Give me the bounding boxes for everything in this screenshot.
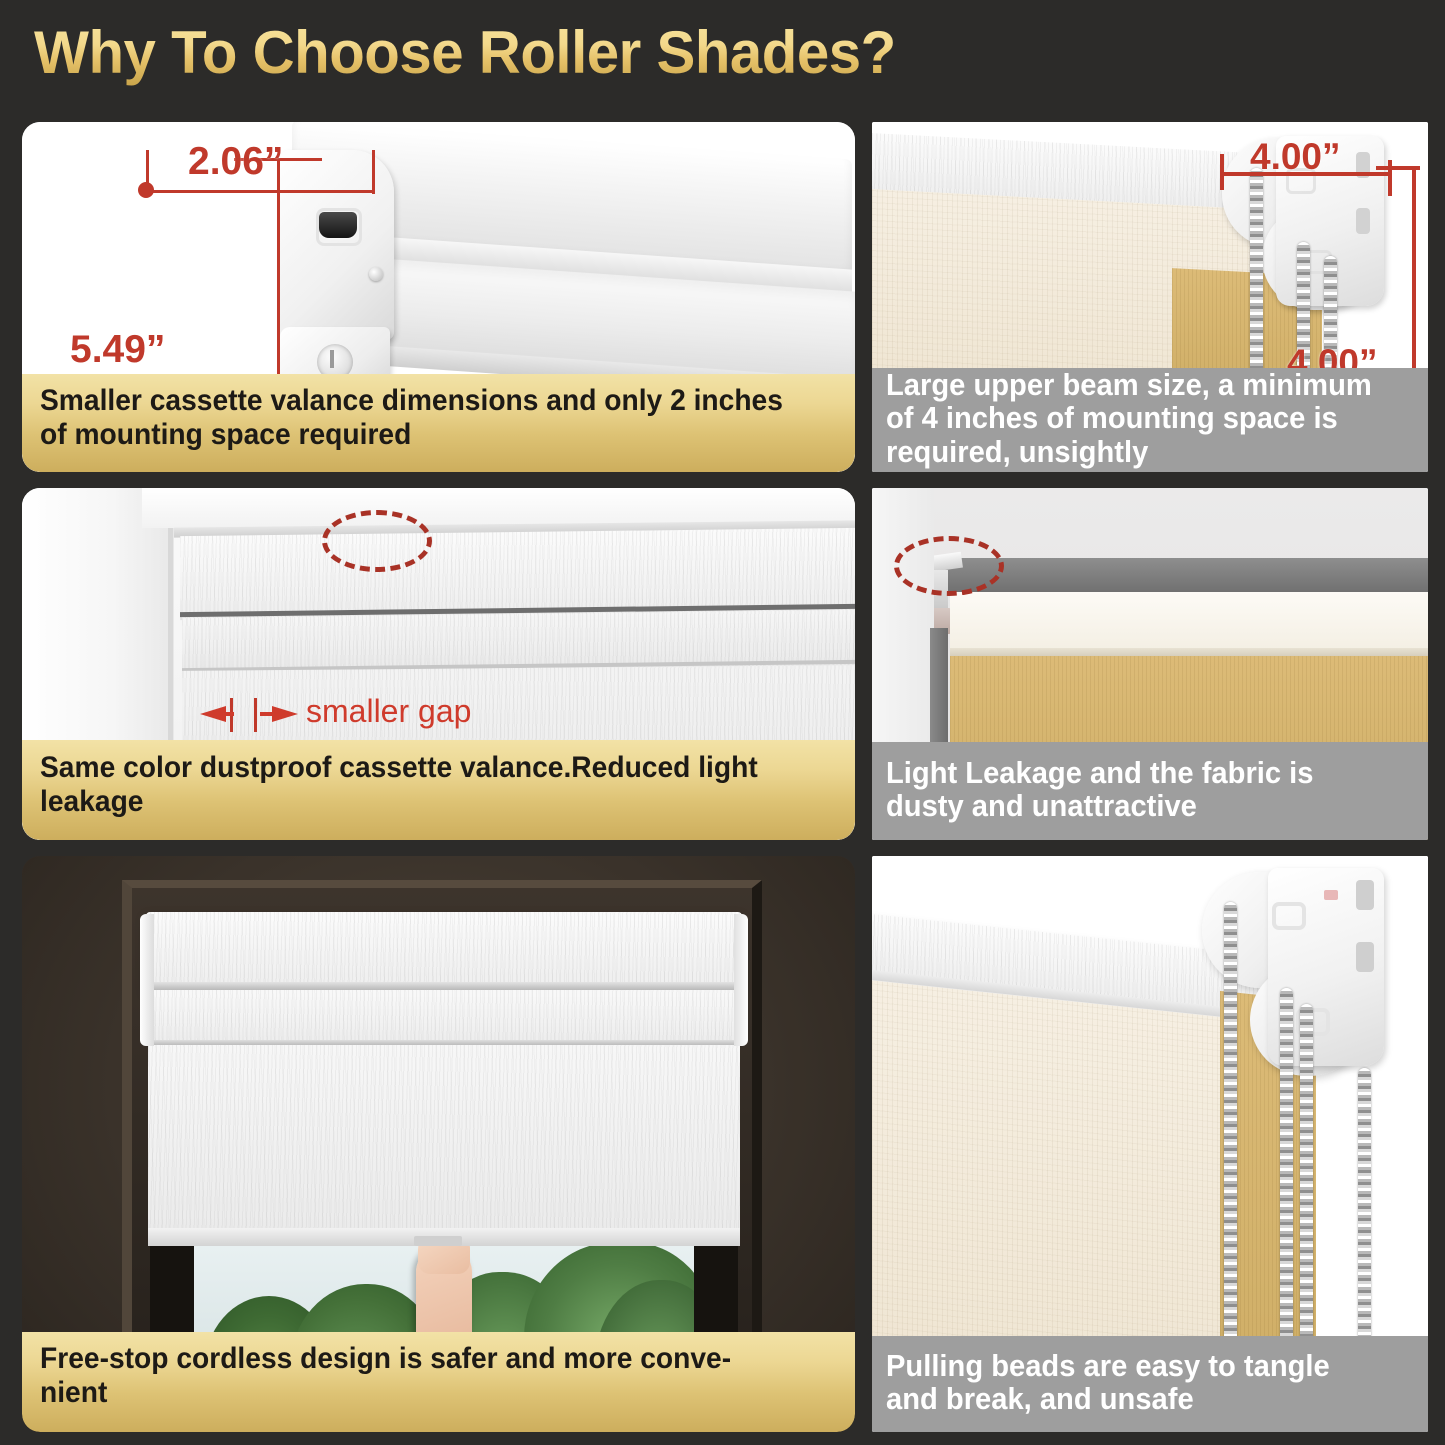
panel-dustproof-valance: smaller gap Same color dustproof cassett… bbox=[22, 488, 855, 840]
gap-marker-right bbox=[254, 698, 257, 732]
depth-dim-tick-right bbox=[372, 150, 375, 194]
gap-arrow-right-icon bbox=[260, 702, 300, 726]
panel-5-caption-line2: nient bbox=[40, 1376, 107, 1409]
panel-4-caption: Light Leakage and the fabric is dusty an… bbox=[872, 742, 1428, 840]
page-title: Why To Choose Roller Shades? bbox=[34, 18, 896, 87]
panel-3-caption: Same color dustproof cassette valance.Re… bbox=[22, 740, 855, 840]
highlight-ellipse bbox=[322, 510, 432, 572]
gap-label: smaller gap bbox=[306, 693, 471, 730]
panel-smaller-cassette: 5.49” 2.06” Smaller cassette valance dim… bbox=[22, 122, 855, 472]
panel-5-caption-line1: Free-stop cordless design is safer and m… bbox=[40, 1342, 731, 1375]
panel-light-leakage: Large gap Light Leakage and the fabric i… bbox=[872, 488, 1428, 840]
width-dim-tick-left bbox=[1220, 154, 1224, 190]
panel-2-caption-text: Large upper beam size, a minimum of 4 in… bbox=[886, 368, 1386, 468]
panel-large-beam: 4.00” 4.00” Large upper beam size, a min… bbox=[872, 122, 1428, 472]
depth-dimension-line bbox=[146, 190, 374, 193]
panel-6-caption: Pulling beads are easy to tangle and bre… bbox=[872, 1336, 1428, 1432]
panel-pulling-beads: Pulling beads are easy to tangle and bre… bbox=[872, 856, 1428, 1432]
panel-2-caption: Large upper beam size, a minimum of 4 in… bbox=[872, 368, 1428, 472]
panel-1-caption-text: Smaller cassette valance dimensions and … bbox=[40, 384, 791, 451]
height-dimension-label: 5.49” bbox=[70, 328, 165, 372]
panel-cordless-design: Free-stop cordless design is safer and m… bbox=[22, 856, 855, 1432]
height-dim-tick-top bbox=[1376, 166, 1420, 170]
panel-1-caption: Smaller cassette valance dimensions and … bbox=[22, 374, 855, 472]
panel-5-caption: Free-stop cordless design is safer and m… bbox=[22, 1332, 855, 1432]
highlight-ellipse bbox=[894, 536, 1004, 596]
depth-dimension-label: 2.06” bbox=[188, 140, 283, 184]
panel-4-caption-text: Light Leakage and the fabric is dusty an… bbox=[886, 756, 1386, 823]
gap-arrow-left-icon bbox=[200, 702, 234, 726]
width-dimension-label: 4.00” bbox=[1250, 136, 1341, 178]
panel-6-caption-text: Pulling beads are easy to tangle and bre… bbox=[886, 1349, 1386, 1416]
panel-5-caption-text: Free-stop cordless design is safer and m… bbox=[40, 1342, 791, 1409]
header: Why To Choose Roller Shades? bbox=[0, 0, 1445, 104]
bead-chain bbox=[1224, 902, 1237, 1402]
panel-3-caption-text: Same color dustproof cassette valance.Re… bbox=[40, 751, 791, 818]
comparison-grid: 5.49” 2.06” Smaller cassette valance dim… bbox=[0, 110, 1445, 1445]
